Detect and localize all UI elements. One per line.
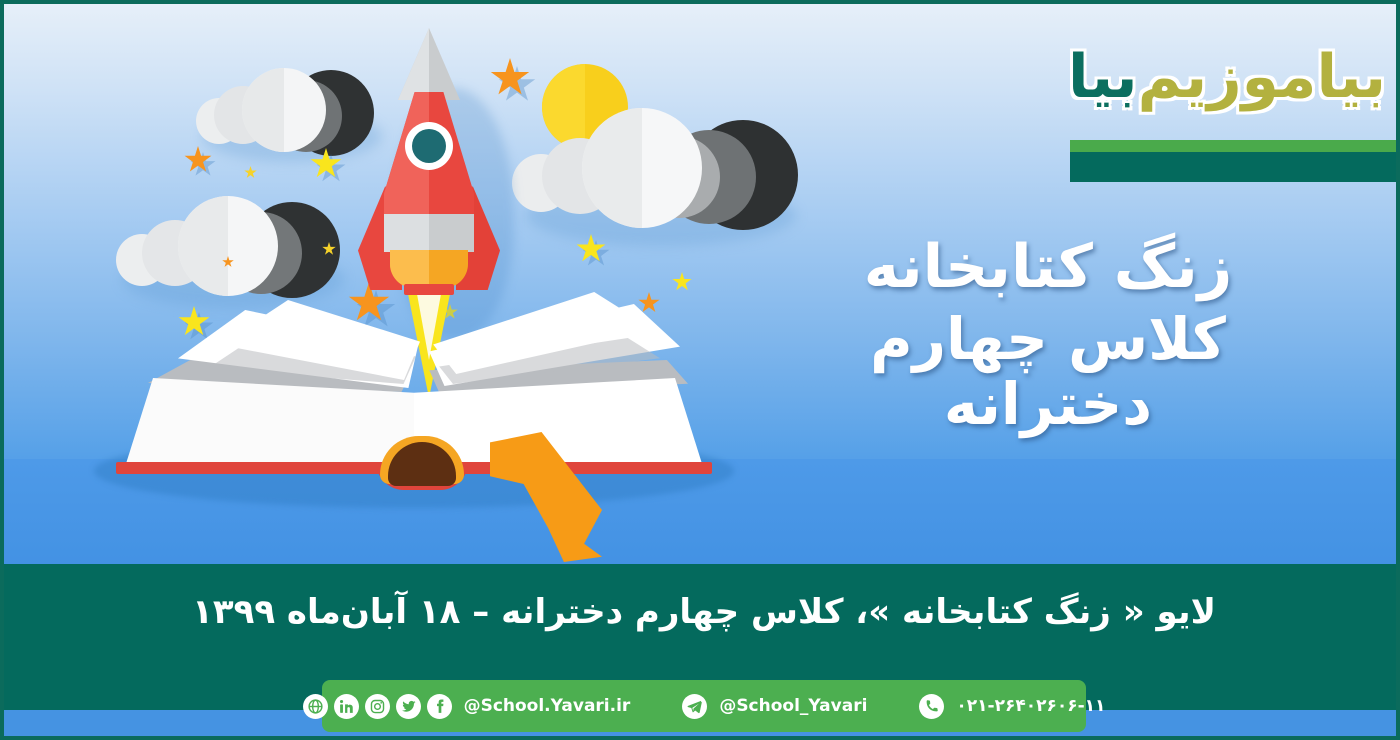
- instagram-icon[interactable]: [365, 694, 390, 719]
- cloud-mid-left: [116, 182, 346, 302]
- phone-number[interactable]: ۰۲۱-۲۶۴۰۲۶۰۶-۱۱: [956, 696, 1105, 716]
- contact-footer: @School.Yavari.ir @School_Yavari ۰۲۱-۲۶۴…: [322, 680, 1086, 732]
- book-left-page: [124, 378, 414, 470]
- website-handle[interactable]: @School.Yavari.ir: [464, 696, 631, 716]
- brand-logo-text: بیاموزیمبیا: [1068, 24, 1368, 129]
- brand-logo-part2: بیاموزیم: [1138, 47, 1386, 107]
- title-line-2: کلاس چهارم دخترانه: [788, 307, 1308, 437]
- twitter-icon[interactable]: [396, 694, 421, 719]
- logo-green-bar: [1070, 140, 1400, 152]
- logo-teal-bar: [1070, 152, 1400, 182]
- page-title: زنگ کتابخانه کلاس چهارم دخترانه: [788, 234, 1308, 437]
- cloud-right: [512, 92, 802, 242]
- rocket-midsection-highlight: [384, 214, 429, 252]
- cloud-top-left: [192, 52, 382, 160]
- brand-logo[interactable]: بیاموزیمبیا: [1066, 18, 1376, 178]
- linkedin-icon[interactable]: [334, 694, 359, 719]
- globe-icon[interactable]: [303, 694, 328, 719]
- caption-text: لایو « زنگ کتابخانه »، کلاس چهارم دختران…: [4, 592, 1400, 632]
- open-book-illustration: [124, 286, 704, 536]
- footer-group-social: @School.Yavari.ir: [303, 694, 631, 719]
- title-line-1: زنگ کتابخانه: [788, 234, 1308, 301]
- poster-canvas: بیاموزیمبیا زنگ کتابخانه کلاس چهارم دختر…: [0, 0, 1400, 740]
- telegram-icon[interactable]: [682, 694, 707, 719]
- footer-group-telegram: @School_Yavari: [682, 694, 867, 719]
- footer-group-phone: ۰۲۱-۲۶۴۰۲۶۰۶-۱۱: [919, 694, 1105, 719]
- telegram-handle[interactable]: @School_Yavari: [719, 696, 867, 716]
- rocket-nose-highlight: [398, 28, 429, 100]
- brand-logo-part1: بیا: [1068, 47, 1138, 107]
- phone-icon[interactable]: [919, 694, 944, 719]
- rocket-porthole-glass: [412, 129, 446, 163]
- facebook-icon[interactable]: [427, 694, 452, 719]
